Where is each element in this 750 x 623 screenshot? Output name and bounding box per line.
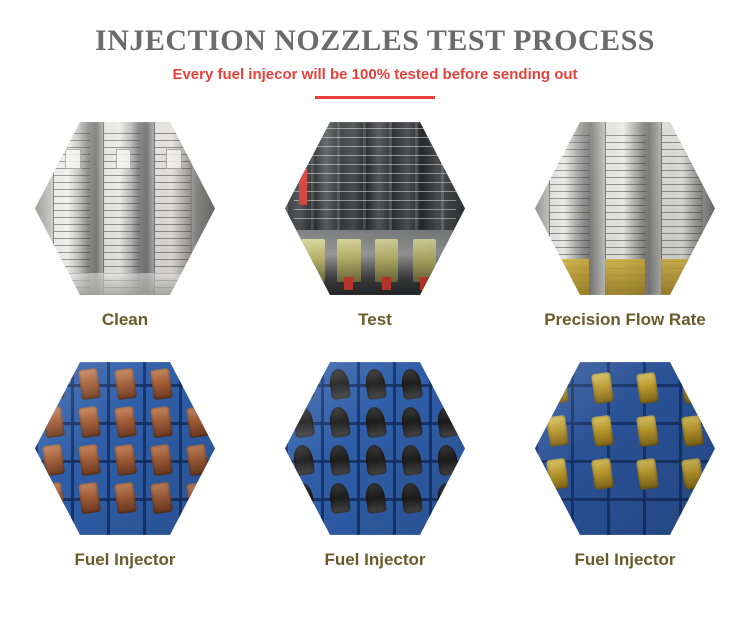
page-subtitle: Every fuel injecor will be 100% tested b… <box>0 67 750 84</box>
process-cell-test: Test <box>250 119 500 359</box>
photo-fuel-injector-brass <box>535 359 715 539</box>
caption-fuel-injector-2: Fuel Injector <box>324 551 425 570</box>
caption-precision-flow: Precision Flow Rate <box>544 311 706 330</box>
page-header: INJECTION NOZZLES TEST PROCESS Every fue… <box>0 0 750 99</box>
title-divider <box>315 96 435 99</box>
page-root: INJECTION NOZZLES TEST PROCESS Every fue… <box>0 0 750 623</box>
caption-test: Test <box>358 311 392 330</box>
hex-photo-precision-flow <box>535 119 715 299</box>
page-title: INJECTION NOZZLES TEST PROCESS <box>0 24 750 57</box>
caption-fuel-injector-3: Fuel Injector <box>574 551 675 570</box>
caption-fuel-injector-1: Fuel Injector <box>74 551 175 570</box>
hex-photo-clean <box>35 119 215 299</box>
photo-fuel-injector-copper <box>35 359 215 539</box>
caption-clean: Clean <box>102 311 148 330</box>
photo-test <box>285 119 465 299</box>
photo-fuel-injector-black <box>285 359 465 539</box>
process-cell-fuel-injector-1: Fuel Injector <box>0 359 250 599</box>
process-cell-fuel-injector-3: Fuel Injector <box>500 359 750 599</box>
hex-photo-fuel-injector-3 <box>535 359 715 539</box>
photo-clean <box>35 119 215 299</box>
process-grid: Clean Test <box>0 119 750 599</box>
hex-photo-fuel-injector-1 <box>35 359 215 539</box>
hex-photo-test <box>285 119 465 299</box>
process-cell-fuel-injector-2: Fuel Injector <box>250 359 500 599</box>
process-cell-clean: Clean <box>0 119 250 359</box>
process-cell-precision-flow: Precision Flow Rate <box>500 119 750 359</box>
photo-precision-flow <box>535 119 715 299</box>
hex-photo-fuel-injector-2 <box>285 359 465 539</box>
